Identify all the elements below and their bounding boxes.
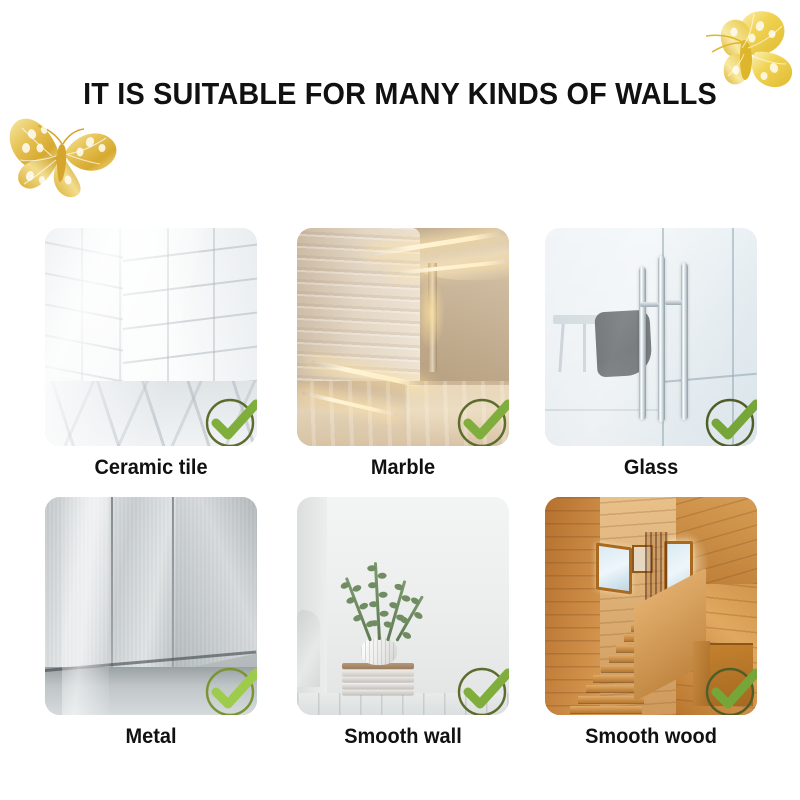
smooth-wood-photo: [545, 497, 757, 715]
surface-card-smooth-wood[interactable]: Smooth wood: [545, 497, 757, 750]
glass-photo: [545, 228, 757, 446]
surface-thumbnail[interactable]: [545, 497, 757, 715]
surface-label: Glass: [550, 455, 751, 481]
surface-thumbnail[interactable]: [45, 228, 257, 446]
marble-photo: [297, 228, 509, 446]
ceramic-tile-photo: [45, 228, 257, 446]
surface-thumbnail[interactable]: [297, 228, 509, 446]
surface-label: Metal: [50, 724, 251, 750]
surface-card-marble[interactable]: Marble: [297, 228, 509, 481]
surface-thumbnail[interactable]: [297, 497, 509, 715]
butterfly-icon: [694, 6, 800, 100]
butterfly-icon: [2, 104, 124, 204]
surface-grid: Ceramic tile: [45, 228, 757, 758]
surface-thumbnail[interactable]: [545, 228, 757, 446]
surface-label: Smooth wood: [550, 724, 751, 750]
surface-label: Smooth wall: [302, 724, 503, 750]
surface-card-glass[interactable]: Glass: [545, 228, 757, 481]
surface-card-metal[interactable]: Metal: [45, 497, 257, 750]
surface-card-smooth-wall[interactable]: Smooth wall: [297, 497, 509, 750]
surface-label: Ceramic tile: [50, 455, 251, 481]
infographic-page: IT IS SUITABLE FOR MANY KINDS OF WALLS: [0, 0, 800, 800]
surface-card-ceramic-tile[interactable]: Ceramic tile: [45, 228, 257, 481]
surface-thumbnail[interactable]: [45, 497, 257, 715]
surface-label: Marble: [302, 455, 503, 481]
metal-photo: [45, 497, 257, 715]
smooth-wall-photo: [297, 497, 509, 715]
page-title: IT IS SUITABLE FOR MANY KINDS OF WALLS: [28, 74, 772, 114]
